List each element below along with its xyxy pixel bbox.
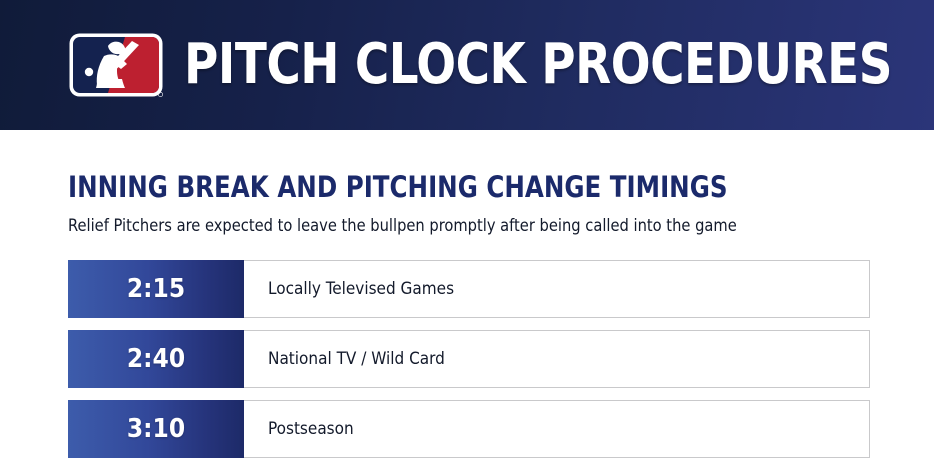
- page-title: PITCH CLOCK PROCEDURES: [184, 36, 892, 94]
- timing-label: Postseason: [244, 400, 870, 458]
- timing-label: Locally Televised Games: [244, 260, 870, 318]
- timing-label: National TV / Wild Card: [244, 330, 870, 388]
- mlb-logo-icon: [68, 32, 164, 98]
- timing-value: 2:15: [68, 260, 244, 318]
- timing-value: 3:10: [68, 400, 244, 458]
- timing-value: 2:40: [68, 330, 244, 388]
- section-heading: INNING BREAK AND PITCHING CHANGE TIMINGS: [68, 172, 882, 202]
- mlb-logo: [68, 32, 164, 98]
- table-row: 3:10 Postseason: [68, 400, 870, 458]
- section-subheading: Relief Pitchers are expected to leave th…: [68, 216, 899, 236]
- main-content: INNING BREAK AND PITCHING CHANGE TIMINGS…: [0, 172, 934, 458]
- table-row: 2:15 Locally Televised Games: [68, 260, 870, 318]
- table-row: 2:40 National TV / Wild Card: [68, 330, 870, 388]
- timing-list: 2:15 Locally Televised Games 2:40 Nation…: [68, 260, 934, 458]
- header-banner: PITCH CLOCK PROCEDURES: [0, 0, 934, 130]
